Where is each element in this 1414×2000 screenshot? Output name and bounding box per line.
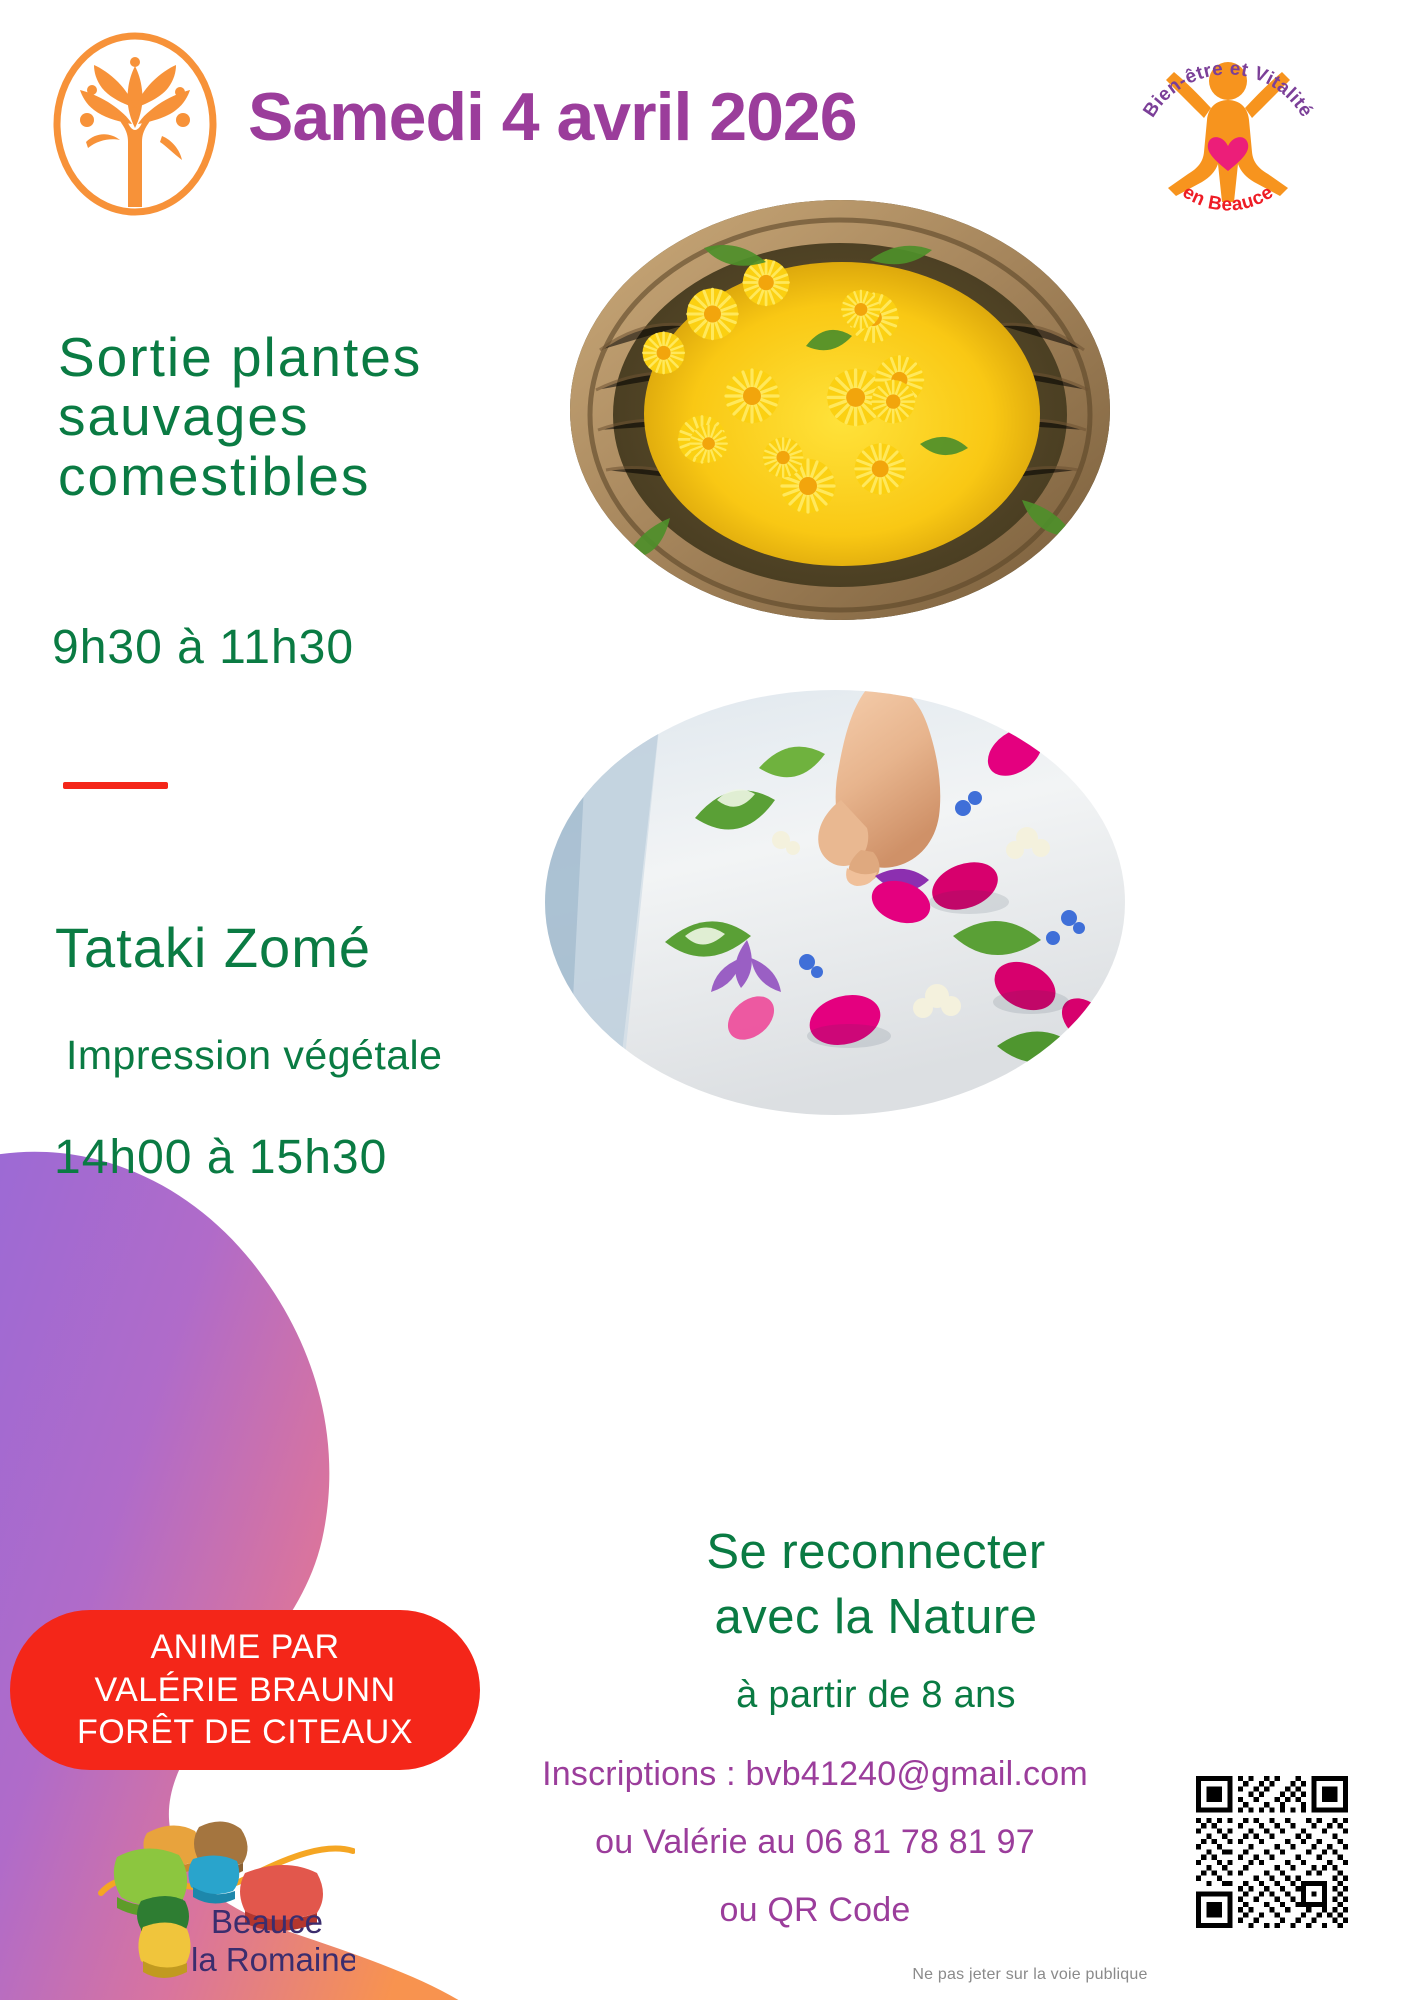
section1-title: Sortie plantes sauvages comestibles — [58, 328, 498, 506]
slogan-line2: avec la Nature — [596, 1585, 1156, 1650]
section2-time: 14h00 à 15h30 — [54, 1130, 387, 1185]
qr-code[interactable] — [1196, 1776, 1348, 1928]
section-divider — [63, 782, 168, 789]
contact-block: Inscriptions : bvb41240@gmail.com ou Val… — [470, 1740, 1160, 1944]
slogan-text: Se reconnecter avec la Nature — [596, 1520, 1156, 1649]
poster-canvas: Samedi 4 avril 2026 Bien-être et Vitalit… — [0, 0, 1414, 2000]
partner-logo-line1: Beauce — [211, 1903, 323, 1940]
animator-badge-line2: VALÉRIE BRAUNN — [94, 1669, 395, 1712]
section2-subtitle: Impression végétale — [66, 1032, 442, 1079]
partner-logo-line2: la Romaine — [191, 1941, 355, 1978]
beauce-la-romaine-logo: Beauce la Romaine — [95, 1815, 355, 1980]
contact-qr-hint: ou QR Code — [470, 1876, 1160, 1944]
age-requirement: à partir de 8 ans — [596, 1674, 1156, 1717]
section1-title-line3: comestibles — [58, 447, 498, 506]
contact-phone[interactable]: ou Valérie au 06 81 78 81 97 — [470, 1808, 1160, 1876]
footer-note: Ne pas jeter sur la voie publique — [820, 1966, 1240, 1984]
animator-badge-line1: ANIME PAR — [150, 1626, 339, 1669]
animator-badge: ANIME PAR VALÉRIE BRAUNN FORÊT DE CITEAU… — [10, 1610, 480, 1770]
slogan-line1: Se reconnecter — [596, 1520, 1156, 1585]
dandelion-basket-photo — [570, 200, 1110, 620]
tataki-zome-photo — [545, 690, 1125, 1115]
association-logo: Bien-être et Vitalité en Beauce — [1128, 24, 1328, 224]
contact-email[interactable]: Inscriptions : bvb41240@gmail.com — [470, 1740, 1160, 1808]
animator-badge-line3: FORÊT DE CITEAUX — [77, 1711, 413, 1754]
section1-title-line2: sauvages — [58, 387, 498, 446]
section1-title-line1: Sortie plantes — [58, 328, 498, 387]
tree-logo-icon — [40, 32, 230, 217]
section1-time: 9h30 à 11h30 — [52, 620, 354, 675]
section2-title: Tataki Zomé — [55, 915, 371, 980]
event-date-title: Samedi 4 avril 2026 — [248, 82, 888, 153]
